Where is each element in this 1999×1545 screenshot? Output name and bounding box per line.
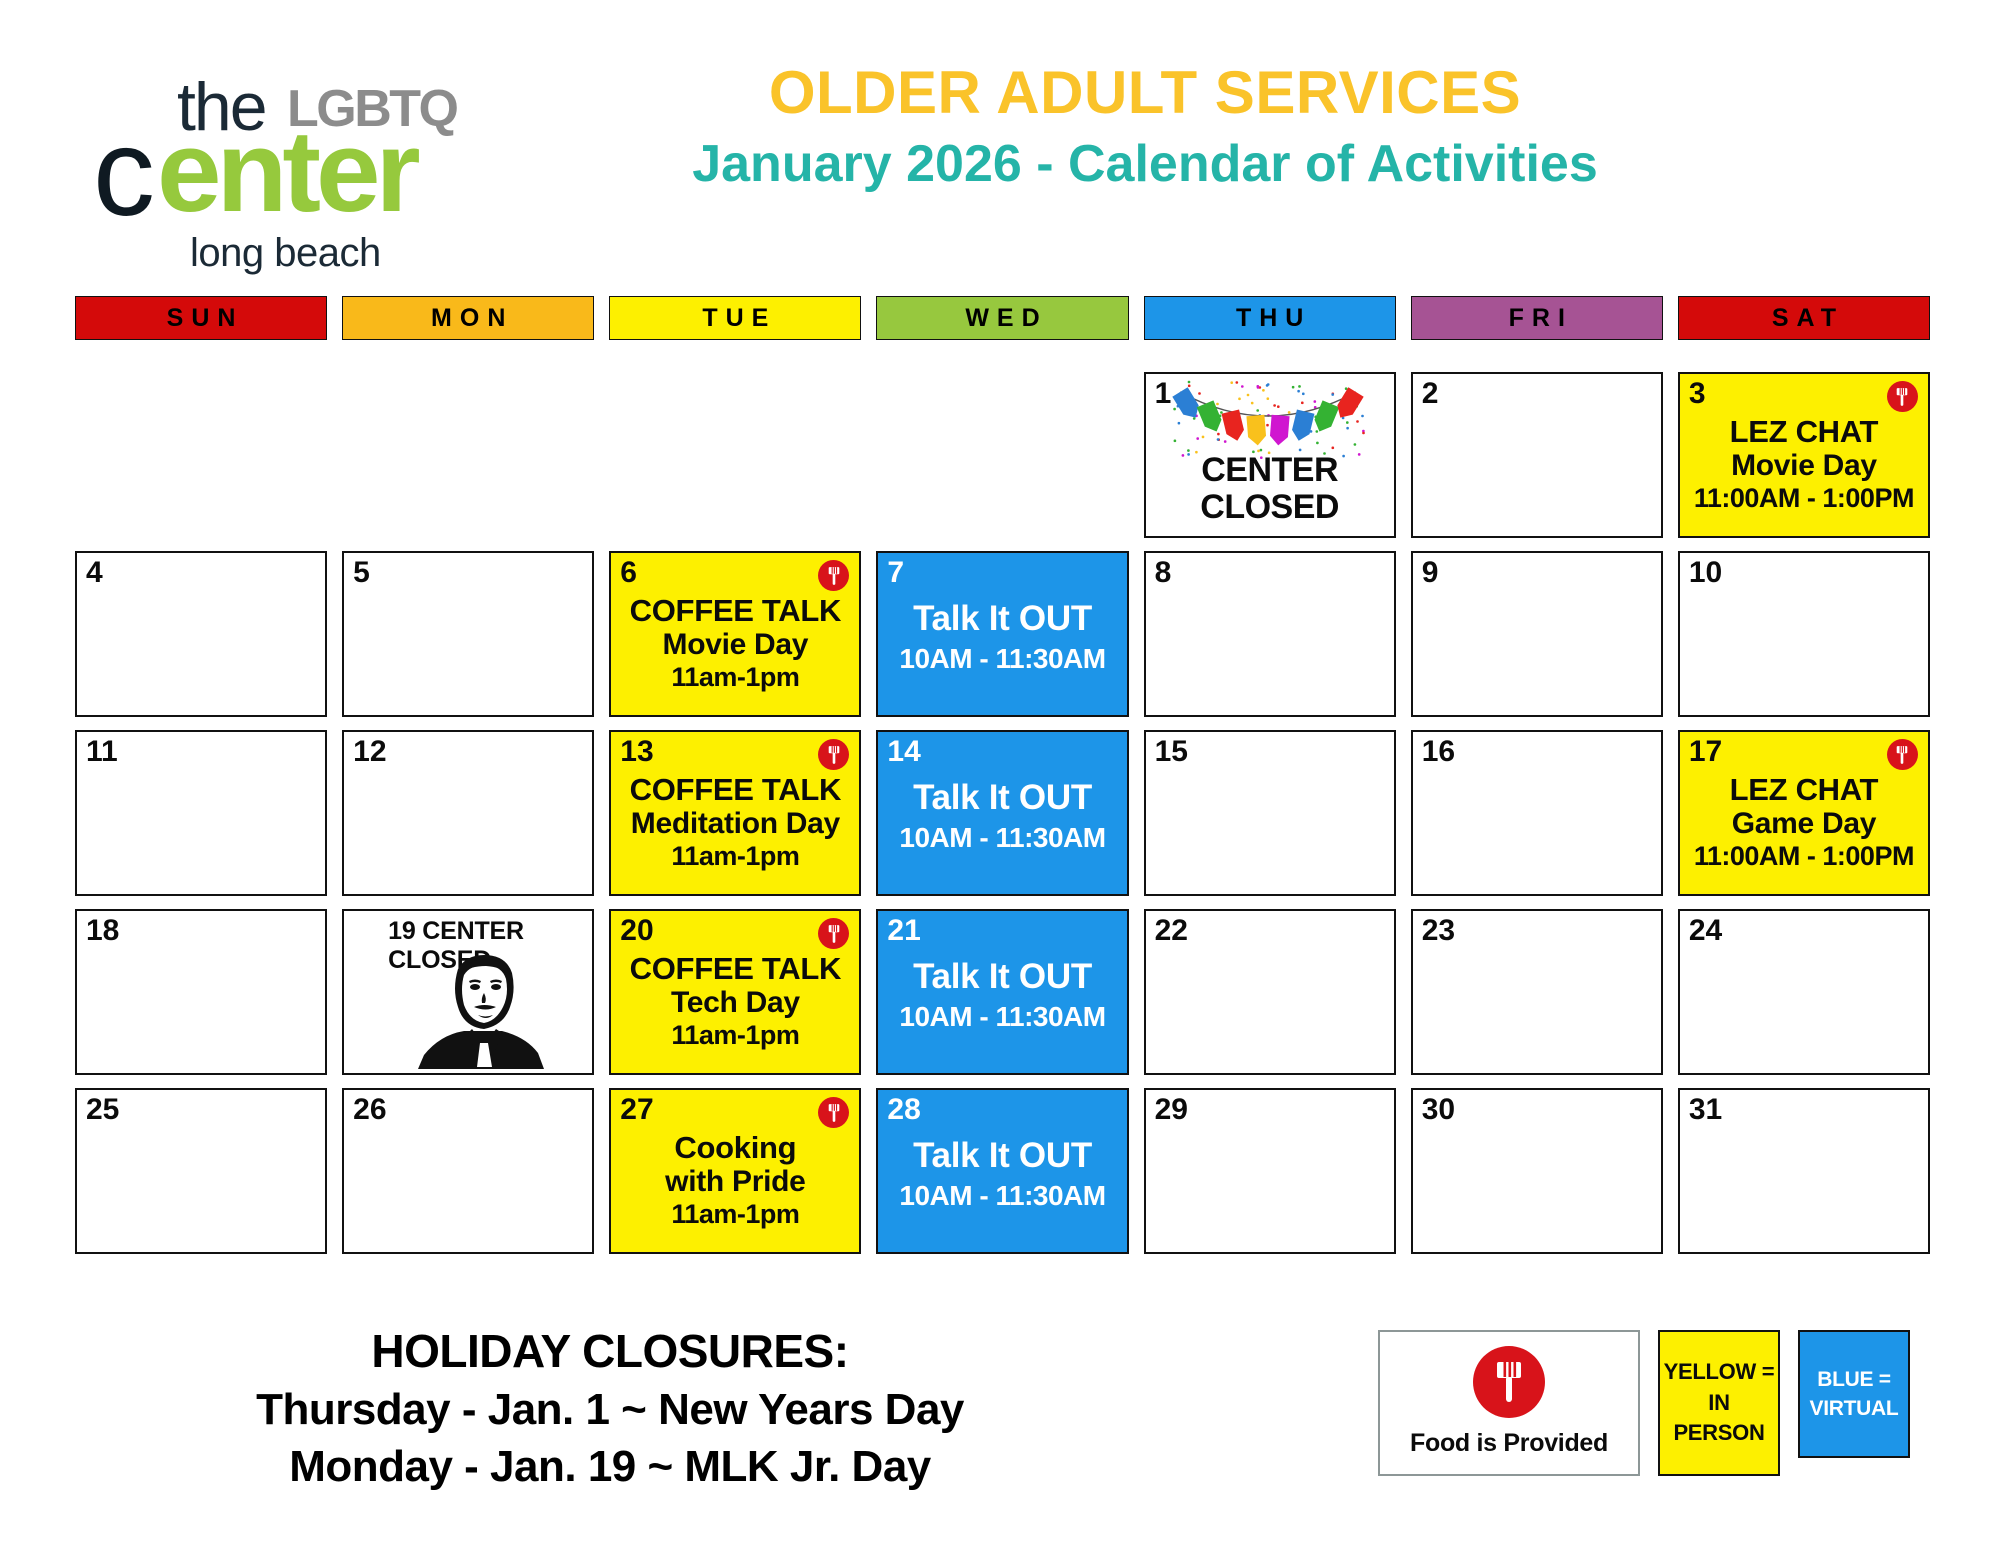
event-title: LEZ CHAT (1684, 414, 1924, 449)
event-details: Cookingwith Pride11am-1pm (611, 1130, 859, 1229)
calendar-day-9[interactable]: 9 (1411, 551, 1663, 717)
day-number: 31 (1689, 1095, 1722, 1125)
calendar-cell-empty (876, 372, 1128, 538)
weekday-header-wed: WED (876, 296, 1128, 340)
food-icon (1887, 381, 1918, 412)
calendar-day-16[interactable]: 16 (1411, 730, 1663, 896)
event-title: COFFEE TALK (615, 772, 855, 807)
day-number: 16 (1422, 737, 1455, 767)
day-number: 10 (1689, 558, 1722, 588)
calendar-day-21-event[interactable]: 21Talk It OUT10AM - 11:30AM (876, 909, 1128, 1075)
event-details: COFFEE TALKMeditation Day11am-1pm (611, 772, 859, 871)
day-number: 23 (1422, 916, 1455, 946)
day-number: 13 (620, 737, 653, 767)
weekday-header-thu: THU (1144, 296, 1396, 340)
weekday-header-sat: SAT (1678, 296, 1930, 340)
event-time: 11am-1pm (615, 841, 855, 872)
day-number: 15 (1155, 737, 1188, 767)
event-details: LEZ CHATGame Day11:00AM - 1:00PM (1680, 772, 1928, 871)
day-number: 20 (620, 916, 653, 946)
logo-word-enter: enter (157, 113, 416, 229)
day-number: 9 (1422, 558, 1439, 588)
day-number: 17 (1689, 737, 1722, 767)
holiday-closure-line-2: Monday - Jan. 19 ~ MLK Jr. Day (150, 1438, 1070, 1495)
page-header: the LGBTQ c enter long beach OLDER ADULT… (0, 0, 1999, 268)
event-time: 10AM - 11:30AM (882, 643, 1122, 675)
legend-food-provided: Food is Provided (1378, 1330, 1640, 1476)
day-number: 2 (1422, 379, 1439, 409)
day-number: 26 (353, 1095, 386, 1125)
calendar-day-22[interactable]: 22 (1144, 909, 1396, 1075)
legend-blue-virtual: BLUE = VIRTUAL (1798, 1330, 1910, 1458)
food-icon (818, 918, 849, 949)
event-details: Talk It OUT10AM - 11:30AM (878, 1136, 1126, 1211)
center-closed-label: CENTERCLOSED (1146, 452, 1394, 525)
day-number: 30 (1422, 1095, 1455, 1125)
day-number: 29 (1155, 1095, 1188, 1125)
mlk-portrait-icon (406, 949, 561, 1069)
calendar-cell-empty (609, 372, 861, 538)
day-number: 18 (86, 916, 119, 946)
event-time: 10AM - 11:30AM (882, 822, 1122, 854)
calendar-day-11[interactable]: 11 (75, 730, 327, 896)
event-details: Talk It OUT10AM - 11:30AM (878, 778, 1126, 853)
calendar-day-7-event[interactable]: 7Talk It OUT10AM - 11:30AM (876, 551, 1128, 717)
event-details: COFFEE TALKMovie Day11am-1pm (611, 593, 859, 692)
day-number: 12 (353, 737, 386, 767)
event-details: LEZ CHATMovie Day11:00AM - 1:00PM (1680, 414, 1928, 513)
day-number: 6 (620, 558, 637, 588)
day-number: 27 (620, 1095, 653, 1125)
event-title: COFFEE TALK (615, 593, 855, 628)
day-number: 11 (86, 737, 118, 767)
closed-line-2: CLOSED (1146, 489, 1394, 526)
event-details: Talk It OUT10AM - 11:30AM (878, 957, 1126, 1032)
event-title: Talk It OUT (882, 599, 1122, 639)
calendar-day-26[interactable]: 26 (342, 1088, 594, 1254)
event-details: Talk It OUT10AM - 11:30AM (878, 599, 1126, 674)
event-title: Cooking (615, 1130, 855, 1165)
calendar-day-27-event[interactable]: 27Cookingwith Pride11am-1pm (609, 1088, 861, 1254)
food-icon (1887, 739, 1918, 770)
page-title: OLDER ADULT SERVICES (480, 60, 1810, 126)
event-subtitle: Tech Day (615, 986, 855, 1020)
event-time: 10AM - 11:30AM (882, 1001, 1122, 1033)
day-number: 25 (86, 1095, 119, 1125)
food-icon (1473, 1346, 1545, 1418)
food-icon (818, 560, 849, 591)
calendar-day-14-event[interactable]: 14Talk It OUT10AM - 11:30AM (876, 730, 1128, 896)
event-subtitle: with Pride (615, 1165, 855, 1199)
calendar-day-2[interactable]: 2 (1411, 372, 1663, 538)
calendar-day-29[interactable]: 29 (1144, 1088, 1396, 1254)
calendar-day-1-center-closed[interactable]: 1CENTERCLOSED (1144, 372, 1396, 538)
calendar-day-10[interactable]: 10 (1678, 551, 1930, 717)
event-time: 11:00AM - 1:00PM (1684, 841, 1924, 872)
day-number: 14 (887, 737, 920, 767)
calendar-page: the LGBTQ c enter long beach OLDER ADULT… (0, 0, 1999, 1545)
logo-letter-c: c (93, 111, 149, 235)
food-icon (818, 1097, 849, 1128)
weekday-header-tue: TUE (609, 296, 861, 340)
calendar-day-25[interactable]: 25 (75, 1088, 327, 1254)
center-long-beach-logo: the LGBTQ c enter long beach (95, 55, 425, 230)
holiday-closure-line-1: Thursday - Jan. 1 ~ New Years Day (150, 1381, 1070, 1438)
weekday-header-mon: MON (342, 296, 594, 340)
event-subtitle: Movie Day (1684, 449, 1924, 483)
calendar-day-30[interactable]: 30 (1411, 1088, 1663, 1254)
event-time: 10AM - 11:30AM (882, 1180, 1122, 1212)
logo-word-long-beach: long beach (190, 233, 381, 273)
calendar-day-5[interactable]: 5 (342, 551, 594, 717)
holiday-closures-block: HOLIDAY CLOSURES: Thursday - Jan. 1 ~ Ne… (150, 1323, 1070, 1495)
day-number: 24 (1689, 916, 1722, 946)
page-subtitle: January 2026 - Calendar of Activities (480, 136, 1810, 193)
event-subtitle: Game Day (1684, 807, 1924, 841)
calendar-day-20-event[interactable]: 20COFFEE TALKTech Day11am-1pm (609, 909, 861, 1075)
calendar-day-24[interactable]: 24 (1678, 909, 1930, 1075)
calendar-day-18[interactable]: 18 (75, 909, 327, 1075)
event-title: Talk It OUT (882, 957, 1122, 997)
day-number: 28 (887, 1095, 920, 1125)
party-bunting-icon (1170, 378, 1366, 462)
calendar-day-15[interactable]: 15 (1144, 730, 1396, 896)
event-title: COFFEE TALK (615, 951, 855, 986)
event-subtitle: Meditation Day (615, 807, 855, 841)
event-time: 11am-1pm (615, 1199, 855, 1230)
calendar-grid: 1CENTERCLOSED23LEZ CHATMovie Day11:00AM … (75, 372, 1930, 1254)
event-title: Talk It OUT (882, 1136, 1122, 1176)
calendar-day-8[interactable]: 8 (1144, 551, 1396, 717)
day-number: 4 (86, 558, 103, 588)
day-number: 3 (1689, 379, 1706, 409)
legend-yellow-in-person: YELLOW = IN PERSON (1658, 1330, 1780, 1476)
event-details: COFFEE TALKTech Day11am-1pm (611, 951, 859, 1050)
calendar-cell-empty (342, 372, 594, 538)
event-time: 11am-1pm (615, 662, 855, 693)
holiday-closures-title: HOLIDAY CLOSURES: (150, 1323, 1070, 1381)
day-number: 7 (887, 558, 904, 588)
calendar-cell-empty (75, 372, 327, 538)
calendar-day-6-event[interactable]: 6COFFEE TALKMovie Day11am-1pm (609, 551, 861, 717)
calendar-day-28-event[interactable]: 28Talk It OUT10AM - 11:30AM (876, 1088, 1128, 1254)
weekday-header-sun: SUN (75, 296, 327, 340)
calendar-day-12[interactable]: 12 (342, 730, 594, 896)
calendar-day-31[interactable]: 31 (1678, 1088, 1930, 1254)
day-number: 5 (353, 558, 370, 588)
day-number: 22 (1155, 916, 1188, 946)
event-title: LEZ CHAT (1684, 772, 1924, 807)
event-time: 11am-1pm (615, 1020, 855, 1051)
title-block: OLDER ADULT SERVICES January 2026 - Cale… (480, 60, 1810, 193)
legend-block: Food is Provided YELLOW = IN PERSON BLUE… (1378, 1330, 1910, 1478)
calendar-day-13-event[interactable]: 13COFFEE TALKMeditation Day11am-1pm (609, 730, 861, 896)
closed-line-1: CENTER (1146, 452, 1394, 489)
calendar-day-23[interactable]: 23 (1411, 909, 1663, 1075)
calendar-day-17-event[interactable]: 17LEZ CHATGame Day11:00AM - 1:00PM (1678, 730, 1930, 896)
weekday-header-fri: FRI (1411, 296, 1663, 340)
food-icon (818, 739, 849, 770)
event-title: Talk It OUT (882, 778, 1122, 818)
event-time: 11:00AM - 1:00PM (1684, 483, 1924, 514)
calendar-day-19-mlk-closed[interactable]: 19 CENTER CLOSED (342, 909, 594, 1075)
calendar-day-4[interactable]: 4 (75, 551, 327, 717)
day-number: 8 (1155, 558, 1172, 588)
calendar-day-3-event[interactable]: 3LEZ CHATMovie Day11:00AM - 1:00PM (1678, 372, 1930, 538)
event-subtitle: Movie Day (615, 628, 855, 662)
day-number: 21 (887, 916, 920, 946)
legend-food-label: Food is Provided (1380, 1429, 1638, 1458)
weekday-header-row: SUNMONTUEWEDTHUFRISAT (75, 296, 1930, 340)
